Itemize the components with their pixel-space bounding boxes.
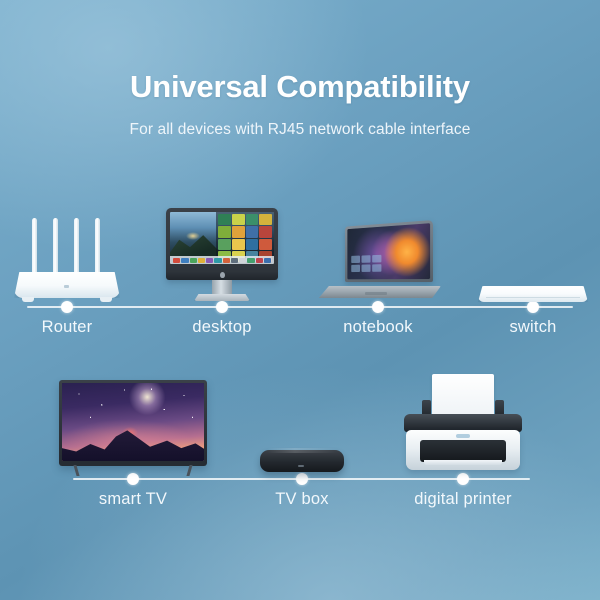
laptop-icon (315, 220, 441, 304)
device-label-switch: switch (509, 318, 556, 337)
router-foot (22, 297, 34, 302)
router-led (64, 285, 69, 288)
router-antenna (32, 218, 37, 278)
tv-bezel (59, 380, 207, 466)
screen-dock (170, 256, 274, 264)
device-label-tv-box: TV box (275, 490, 328, 509)
device-label-smart-tv: smart TV (99, 490, 167, 509)
screen-dock-icon (206, 258, 213, 263)
screen-dock-icon (239, 258, 246, 263)
screen-dock-icon (198, 258, 205, 263)
screen-dock-icon (256, 258, 263, 263)
screen-dock-icon (190, 258, 197, 263)
television-icon (59, 380, 207, 476)
monitor-chin (166, 270, 278, 280)
printer-badge (456, 434, 470, 438)
screen-app-tile (218, 226, 231, 237)
monitor-base (194, 294, 250, 301)
screen-app-tile (218, 239, 231, 250)
tv-box-body (260, 450, 344, 472)
screen-app-tile (232, 214, 245, 225)
tv-leg (73, 465, 79, 476)
printer-icon (402, 374, 524, 476)
switch-body (478, 286, 588, 302)
monitor-bezel (166, 208, 278, 280)
laptop-screen (347, 223, 430, 279)
router-foot (100, 297, 112, 302)
router-icon (12, 212, 122, 304)
device-row-2: smart TV TV box digital printer (0, 368, 600, 518)
laptop-screen-tile (362, 255, 371, 263)
laptop-screen-tile (351, 256, 360, 264)
tv-screen (62, 383, 204, 461)
monitor-neck (212, 280, 232, 294)
tv-leg (186, 465, 192, 476)
screen-app-tile (246, 214, 259, 225)
screen-app-tile (259, 239, 272, 250)
screen-app-tile (259, 226, 272, 237)
screen-dock-icon (173, 258, 180, 263)
device-label-router: Router (42, 318, 93, 337)
screen-sun-glow (186, 232, 200, 240)
network-switch-icon (478, 280, 588, 304)
screen-dock-icon (231, 258, 238, 263)
screen-app-tile (218, 214, 231, 225)
screen-app-tile (232, 239, 245, 250)
connector-rail (27, 306, 573, 308)
screen-app-tile (246, 226, 259, 237)
promo-poster: Universal Compatibility For all devices … (0, 0, 600, 600)
apple-logo-icon (220, 272, 225, 278)
monitor-screen (170, 212, 274, 264)
laptop-screen-tile (372, 264, 381, 272)
laptop-trackpad (365, 292, 387, 295)
page-subtitle: For all devices with RJ45 network cable … (0, 120, 600, 140)
device-label-printer: digital printer (414, 490, 511, 509)
screen-dock-icon (264, 258, 271, 263)
printer-paper (432, 374, 494, 414)
router-antenna (95, 218, 100, 278)
tv-box-highlight (267, 448, 337, 453)
router-antenna (74, 218, 79, 278)
poster-header: Universal Compatibility For all devices … (0, 68, 600, 140)
laptop-screen-tiles (351, 255, 381, 272)
device-label-notebook: notebook (343, 318, 413, 337)
laptop-lid (345, 220, 433, 282)
printer-output-slot (420, 440, 506, 462)
laptop-screen-tile (362, 264, 371, 272)
page-title: Universal Compatibility (0, 68, 600, 106)
screen-dock-icon (223, 258, 230, 263)
device-label-desktop: desktop (192, 318, 251, 337)
switch-seam (486, 297, 580, 298)
screen-dock-icon (214, 258, 221, 263)
screen-app-tile (259, 214, 272, 225)
screen-app-tile (232, 226, 245, 237)
screen-app-tile (246, 239, 259, 250)
tv-box-icon (260, 446, 344, 476)
printer-output-tray (424, 460, 502, 465)
laptop-screen-tile (351, 265, 360, 272)
screen-dock-icon (181, 258, 188, 263)
laptop-screen-tile (372, 255, 381, 263)
tv-box-led (298, 465, 304, 467)
router-antenna (53, 218, 58, 278)
device-row-1: Router desktop (0, 196, 600, 346)
desktop-computer-icon (166, 208, 278, 304)
screen-dock-icon (247, 258, 254, 263)
